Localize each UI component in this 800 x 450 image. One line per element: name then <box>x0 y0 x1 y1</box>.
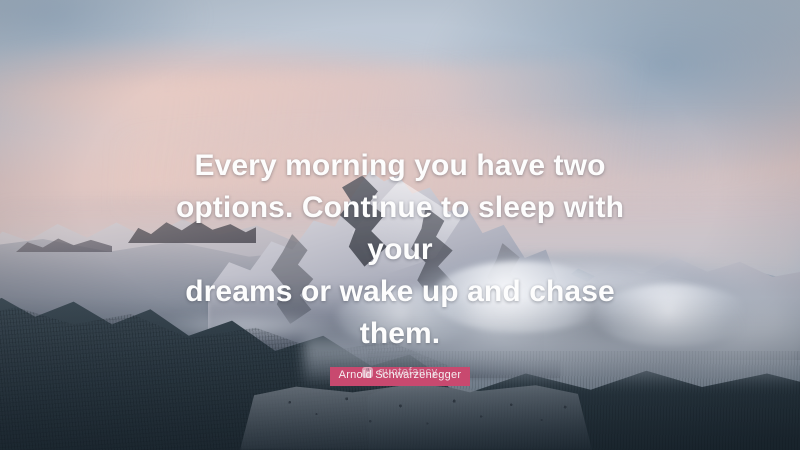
quote-line-1: Every morning you have two <box>160 145 640 187</box>
quote-text: Every morning you have two options. Cont… <box>160 145 640 355</box>
quote-card: Every morning you have two options. Cont… <box>0 0 800 450</box>
quote-line-2: options. Continue to sleep with your <box>160 187 640 271</box>
watermark: “ quotefancy <box>0 366 800 378</box>
quote-badge-icon: “ <box>362 367 373 378</box>
quote-line-3: dreams or wake up and chase them. <box>160 271 640 355</box>
text-overlay: Every morning you have two options. Cont… <box>0 0 800 450</box>
watermark-brand: quotefancy <box>378 366 437 378</box>
